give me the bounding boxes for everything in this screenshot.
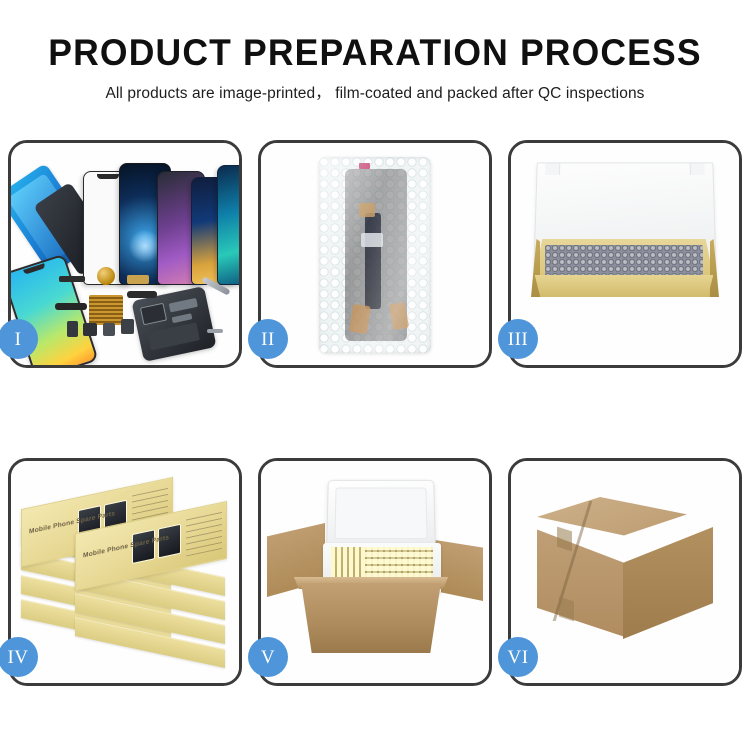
step-6-image — [511, 461, 739, 683]
step-2-image — [261, 143, 489, 365]
process-step-4: Mobile Phone Spare Parts — [8, 458, 242, 686]
process-step-5: V — [258, 458, 492, 686]
header: PRODUCT PREPARATION PROCESS All products… — [0, 0, 750, 103]
carton-tape-lower — [559, 597, 574, 622]
phone-screen-teal — [217, 165, 239, 285]
step-badge-2: II — [248, 319, 288, 359]
step-badge-3: III — [498, 319, 538, 359]
small-part-2 — [83, 323, 97, 336]
carton-front-face — [295, 583, 447, 653]
flex-cable-part-1 — [55, 303, 87, 310]
flex-cable-part-2 — [127, 291, 157, 298]
process-step-grid: I II — [8, 140, 742, 740]
box-label-text: Mobile Phone Spare Parts — [83, 534, 169, 559]
process-step-1: I — [8, 140, 242, 368]
small-part-1 — [67, 321, 78, 337]
gold-contact-part — [127, 275, 149, 284]
process-step-3: III — [508, 140, 742, 368]
step-4-image: Mobile Phone Spare Parts — [11, 461, 239, 683]
box-front-face — [531, 275, 717, 297]
page-title: PRODUCT PREPARATION PROCESS — [15, 0, 735, 72]
screw-part — [207, 329, 223, 333]
step-badge-5: V — [248, 637, 288, 677]
plastic-sheen — [319, 157, 431, 353]
process-step-6: VI — [508, 458, 742, 686]
foam-box-lid — [326, 480, 436, 547]
grey-foam-padding — [545, 245, 703, 279]
phone-screen-fan — [83, 157, 239, 285]
bubble-wrap-bag — [319, 157, 431, 353]
carton-right-face — [623, 527, 713, 639]
battery-connector-part — [59, 276, 85, 282]
carton-left-face — [537, 525, 625, 637]
step-1-image — [11, 143, 239, 365]
small-part-4 — [121, 319, 134, 334]
box-printed-lines — [186, 509, 222, 557]
page-subtitle: All products are image-printed， film-coa… — [0, 72, 750, 103]
step-5-image — [261, 461, 489, 683]
step-badge-6: VI — [498, 637, 538, 677]
small-part-3 — [103, 323, 115, 336]
chip-grid-part — [89, 295, 123, 325]
product-preparation-infographic: PRODUCT PREPARATION PROCESS All products… — [0, 0, 750, 750]
process-step-2: II — [258, 140, 492, 368]
box-stack: Mobile Phone Spare Parts — [21, 483, 235, 673]
speaker-part-icon — [97, 267, 115, 285]
step-3-image — [511, 143, 739, 365]
